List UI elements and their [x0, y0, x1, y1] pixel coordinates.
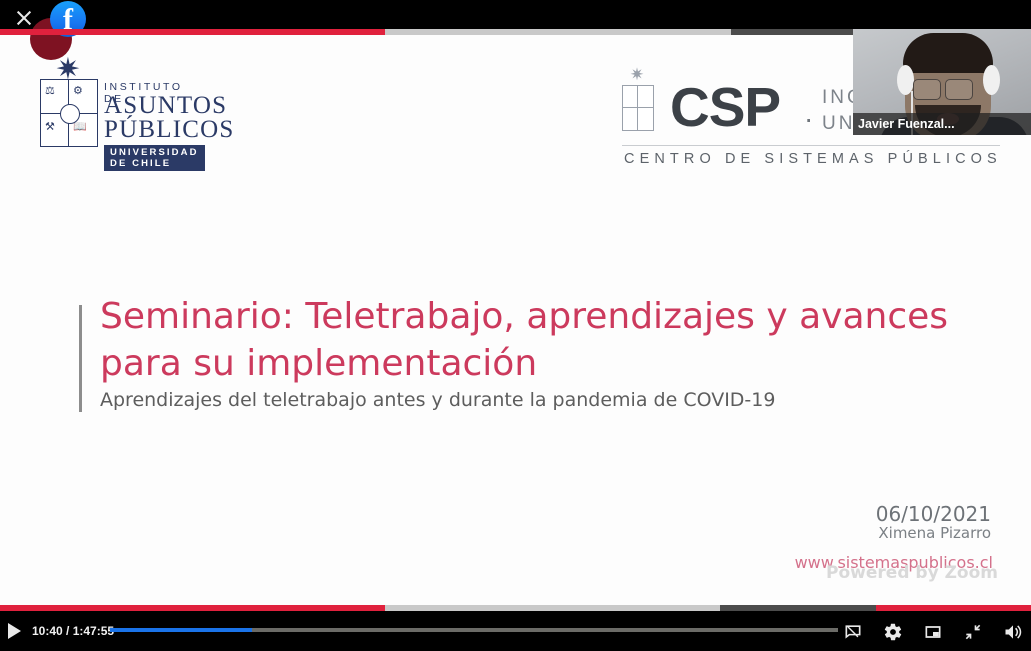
exit-fullscreen-icon[interactable] [963, 622, 983, 642]
iap-logo-line3: PÚBLICOS [104, 116, 234, 144]
top-progress-played [0, 29, 385, 35]
picture-in-picture-icon[interactable] [923, 622, 943, 642]
universidad-de-chile-shield-icon: ⚖ ⚙ ⚒ 📖 [40, 79, 98, 147]
csp-full-name: CENTRO DE SISTEMAS PÚBLICOS [624, 151, 1002, 167]
volume-icon[interactable] [1003, 622, 1023, 642]
csp-shield-icon [622, 85, 654, 131]
csp-separator-dot: · [804, 103, 813, 135]
top-progress-buffered [385, 29, 731, 35]
instituto-asuntos-publicos-logo: ✷ ⚖ ⚙ ⚒ 📖 INSTITUTO DE ASUNTOS PÚBLICOS … [36, 57, 196, 153]
participant-name-label: Javier Fuenzal... [853, 113, 1031, 135]
slide-date: 06/10/2021 [876, 502, 991, 526]
csp-star-icon: ✷ [628, 66, 646, 84]
csp-divider [622, 145, 1000, 146]
headphone-right-icon [983, 65, 1000, 95]
zoom-watermark: Powered by Zoom [826, 563, 998, 583]
seek-bar-fill [110, 628, 252, 632]
control-icon-group [843, 622, 1023, 642]
slide-author: Ximena Pizarro [878, 524, 991, 542]
csp-acronym: CSP [670, 77, 780, 137]
close-icon[interactable] [13, 7, 35, 29]
slide-title: Seminario: Teletrabajo, aprendizajes y a… [100, 293, 990, 387]
top-progress-unbuffered [731, 29, 856, 35]
seek-bar[interactable] [110, 628, 838, 632]
subtitles-off-icon[interactable] [843, 622, 863, 642]
time-display: 10:40 / 1:47:55 [32, 624, 114, 638]
settings-gear-icon[interactable] [883, 622, 903, 642]
top-overlay-bar [0, 0, 1031, 29]
glasses-right-lens [945, 79, 973, 100]
video-player-root: ✷ ⚖ ⚙ ⚒ 📖 INSTITUTO DE ASUNTOS PÚBLICOS … [0, 0, 1031, 651]
webcam-overlay[interactable]: Javier Fuenzal... [853, 29, 1031, 135]
webcam-hair [903, 33, 993, 73]
title-accent-bar [79, 305, 82, 412]
slide-subtitle: Aprendizajes del teletrabajo antes y dur… [100, 389, 775, 411]
iap-logo-badge: UNIVERSIDAD DE CHILE [104, 145, 205, 171]
play-button[interactable] [6, 623, 22, 639]
glasses-left-lens [913, 79, 941, 100]
